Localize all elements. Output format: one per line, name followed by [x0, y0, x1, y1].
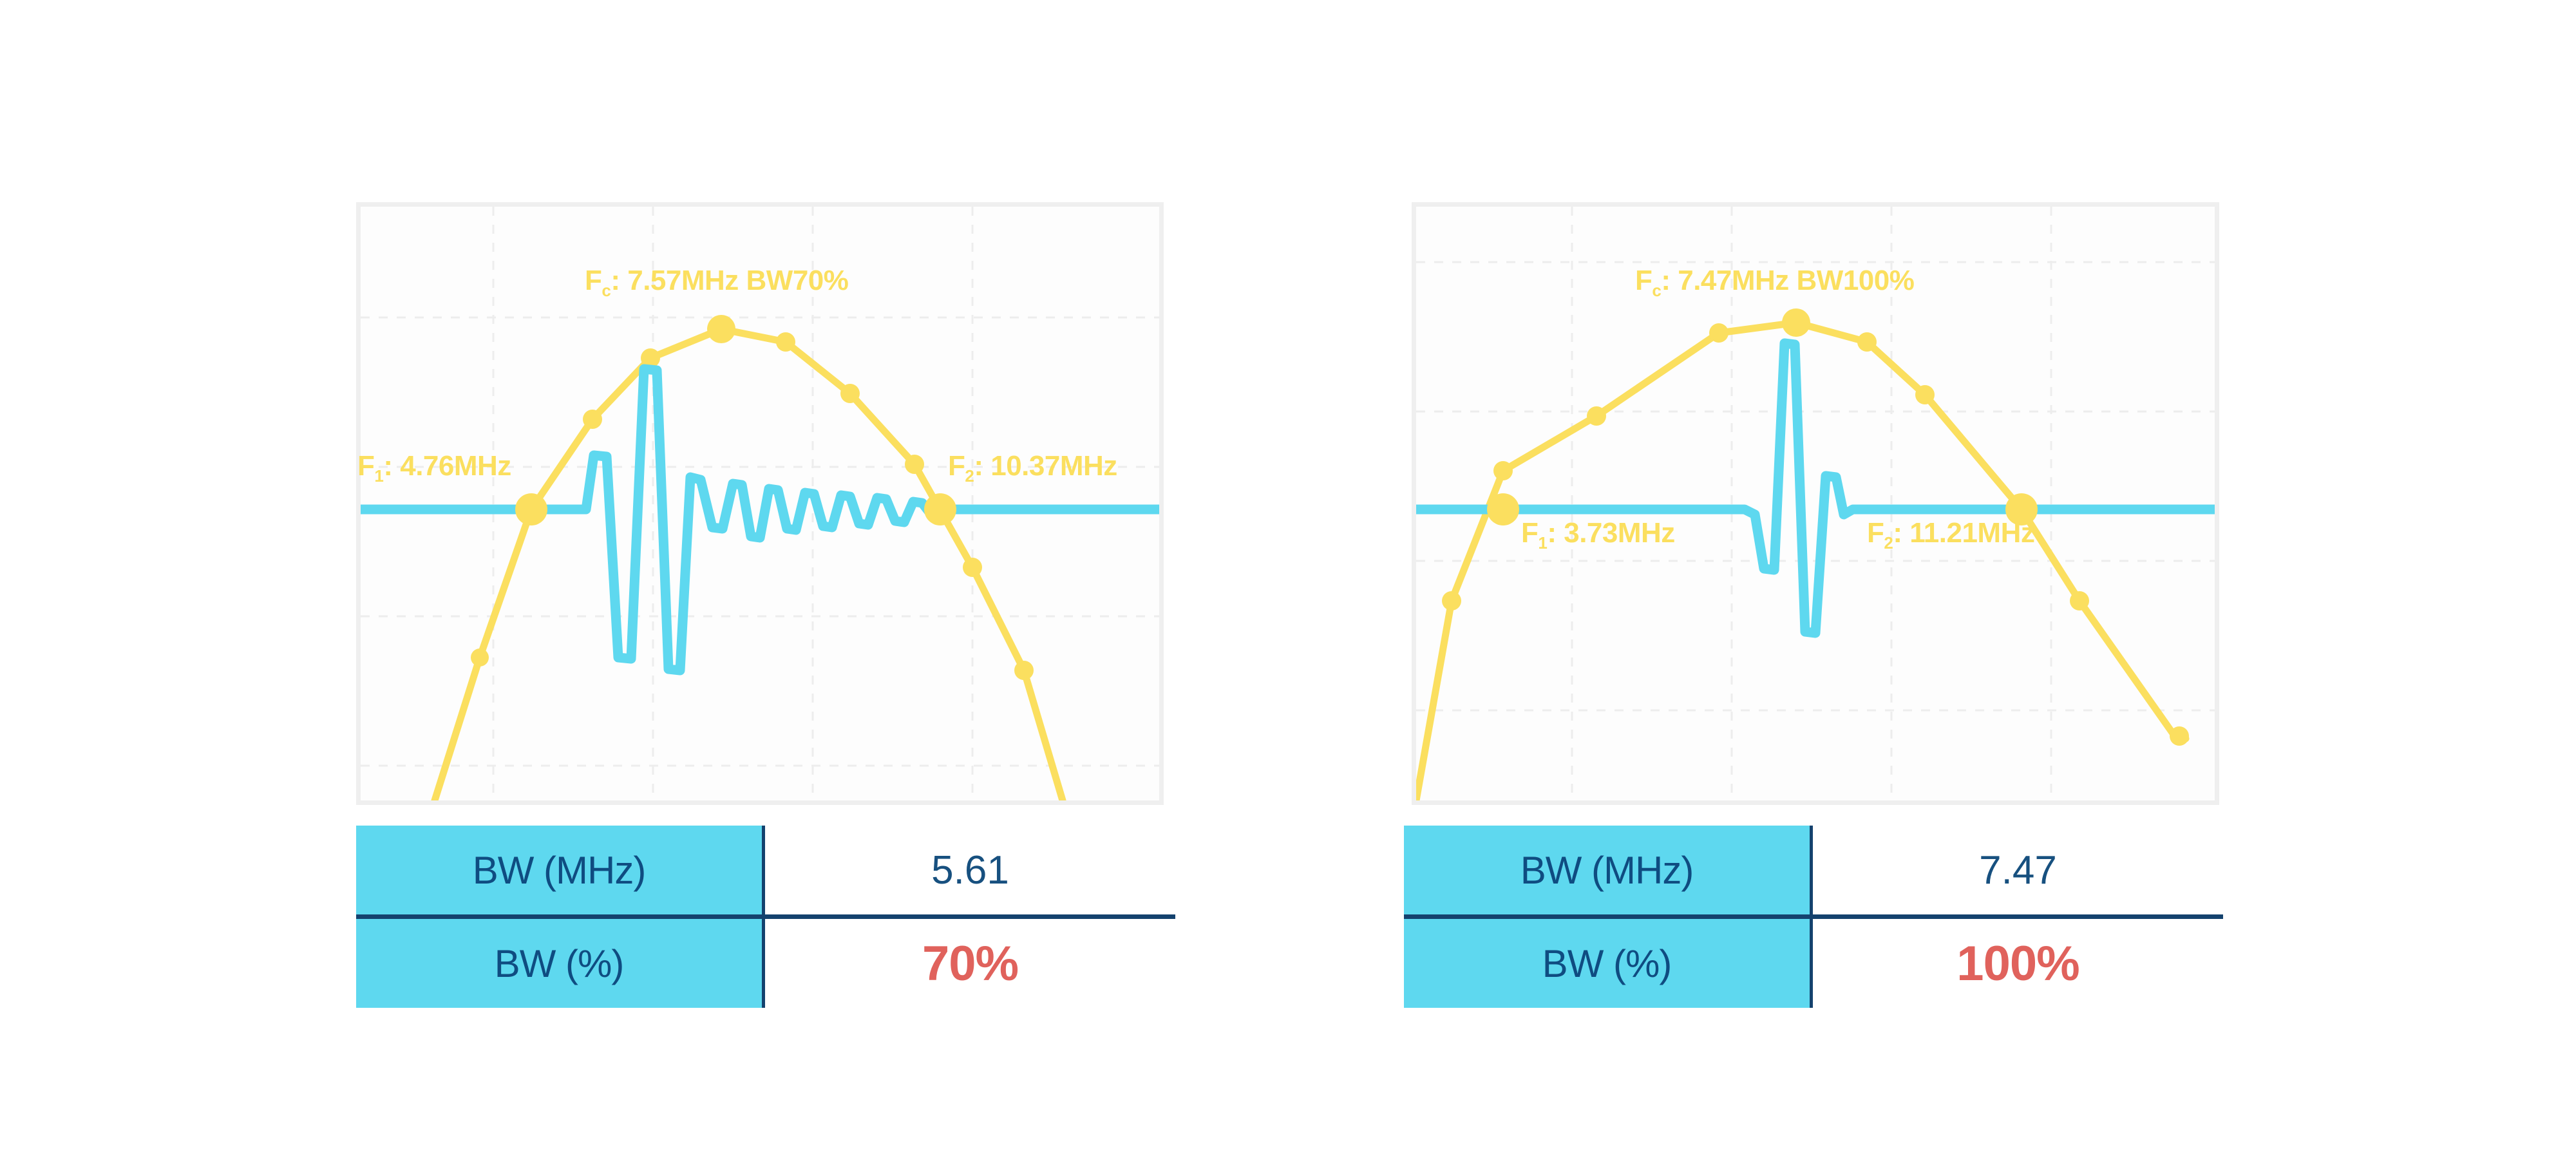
pulse-waveform-right [1416, 343, 2215, 633]
marker-f1-right [1487, 493, 1519, 525]
annotation-fc-right-sub: c [1652, 281, 1661, 300]
bandwidth-panel-right: Fc: 7.47MHz BW100% F1: 3.73MHz F2: 11.21… [1412, 202, 2219, 805]
annotation-f2-right-prefix: F [1867, 517, 1884, 549]
marker-f2-left [924, 493, 956, 525]
bw-mhz-value-right: 7.47 [1979, 848, 2057, 893]
marker-fc-right [1782, 308, 1810, 337]
annotation-fc-right-text: : 7.47MHz BW100% [1661, 265, 1914, 296]
annotation-f2-left: F2: 10.37MHz [948, 450, 1117, 486]
annotation-f1-left-sub: 1 [374, 466, 383, 486]
bw-mhz-value-left: 5.61 [931, 848, 1009, 893]
annotation-f2-left-text: : 10.37MHz [974, 450, 1117, 482]
bw-pct-label-right: BW (%) [1404, 917, 1812, 1008]
bw-table-right: BW (MHz) 7.47 BW (%) 100% [1404, 826, 2223, 1008]
annotation-f1-left-prefix: F [357, 450, 374, 482]
marker-fc-left [707, 315, 735, 343]
annotation-f1-right-text: : 3.73MHz [1547, 517, 1674, 549]
annotation-f1-right: F1: 3.73MHz [1521, 517, 1675, 553]
labeled-markers-left [515, 315, 956, 525]
bw-pct-value-right: 100% [1956, 936, 2079, 991]
bw-pct-value-cell-right: 100% [1812, 917, 2224, 1008]
annotation-fc-right: Fc: 7.47MHz BW100% [1635, 265, 1914, 301]
bw-mhz-label-left: BW (MHz) [356, 826, 764, 917]
table-row: BW (MHz) 5.61 [356, 826, 1175, 917]
annotation-fc-left-sub: c [601, 281, 611, 300]
table-row: BW (%) 70% [356, 917, 1175, 1008]
annotation-f1-right-sub: 1 [1538, 533, 1547, 553]
annotation-f1-left-text: : 4.76MHz [383, 450, 511, 482]
annotation-fc-left-prefix: F [585, 265, 601, 296]
table-row: BW (MHz) 7.47 [1404, 826, 2223, 917]
annotation-f2-right: F2: 11.21MHz [1867, 517, 2034, 553]
table-row: BW (%) 100% [1404, 917, 2223, 1008]
bw-table-left: BW (MHz) 5.61 BW (%) 70% [356, 826, 1175, 1008]
bw-mhz-label-right: BW (MHz) [1404, 826, 1812, 917]
annotation-fc-left: Fc: 7.57MHz BW70% [585, 265, 848, 301]
annotation-f1-left: F1: 4.76MHz [357, 450, 511, 486]
chart-frame-right: Fc: 7.47MHz BW100% F1: 3.73MHz F2: 11.21… [1412, 202, 2219, 805]
pulse-waveform-left [361, 369, 1159, 670]
bw-mhz-value-cell-right: 7.47 [1812, 826, 2224, 917]
annotation-f2-left-sub: 2 [965, 466, 974, 486]
bw-pct-label-left: BW (%) [356, 917, 764, 1008]
bw-pct-value-left: 70% [922, 936, 1018, 991]
bw-mhz-value-cell-left: 5.61 [764, 826, 1176, 917]
annotation-f2-right-sub: 2 [1884, 533, 1893, 553]
annotation-fc-right-prefix: F [1635, 265, 1652, 296]
annotation-f2-left-prefix: F [948, 450, 965, 482]
bw-pct-value-cell-left: 70% [764, 917, 1176, 1008]
chart-frame-left: Fc: 7.57MHz BW70% F1: 4.76MHz F2: 10.37M… [356, 202, 1164, 805]
marker-f1-left [515, 493, 547, 525]
bandwidth-panel-left: Fc: 7.57MHz BW70% F1: 4.76MHz F2: 10.37M… [356, 202, 1164, 805]
annotation-f1-right-prefix: F [1521, 517, 1538, 549]
annotation-f2-right-text: : 11.21MHz [1893, 517, 2034, 549]
labeled-markers-right [1487, 308, 2038, 525]
annotation-fc-left-text: : 7.57MHz BW70% [611, 265, 848, 296]
